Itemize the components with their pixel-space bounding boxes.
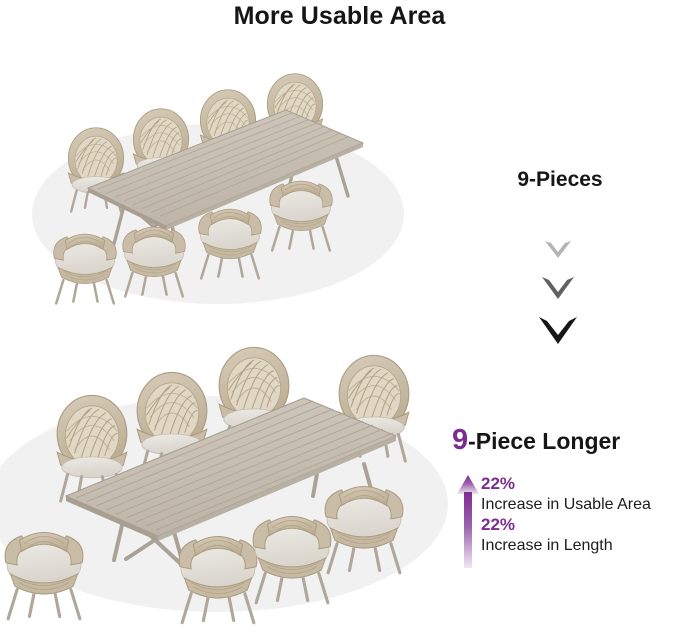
chair-near-4 [325, 486, 403, 572]
bottom-product-scene [0, 318, 456, 618]
stat-desc-length: Increase in Length [481, 535, 679, 556]
stats-text-block: 22% Increase in Usable Area 22% Increase… [481, 474, 679, 556]
chair-near-2 [179, 536, 257, 622]
chair-near-1 [5, 532, 83, 618]
stat-desc-usable-area: Increase in Usable Area [481, 494, 679, 515]
up-arrow-icon [455, 474, 481, 568]
longer-pieces-number: 9 [452, 424, 468, 456]
longer-pieces-text: -Piece Longer [468, 428, 620, 454]
chevron-down-icon-light [544, 240, 572, 262]
chair-near-2 [123, 227, 186, 296]
product-infographic: More Usable Area [0, 0, 679, 640]
chevron-stack [498, 240, 618, 350]
increase-stats: 22% Increase in Usable Area 22% Increase… [455, 474, 679, 574]
chair-near-1 [54, 234, 117, 303]
chair-near-4 [270, 181, 333, 250]
pieces-count-label: 9-Pieces [460, 168, 660, 192]
stat-value-length: 22% [481, 515, 679, 535]
dining-set-longer-illustration [0, 318, 456, 618]
top-product-scene [18, 48, 418, 310]
chevron-down-icon-dark [538, 316, 578, 348]
page-title: More Usable Area [0, 2, 679, 31]
chevron-down-icon-medium [541, 276, 575, 303]
chair-near-3 [253, 516, 331, 602]
longer-pieces-label: 9-Piece Longer [452, 424, 620, 457]
dining-set-standard-illustration [18, 48, 418, 310]
stat-value-usable-area: 22% [481, 474, 679, 494]
chair-near-3 [199, 209, 262, 278]
